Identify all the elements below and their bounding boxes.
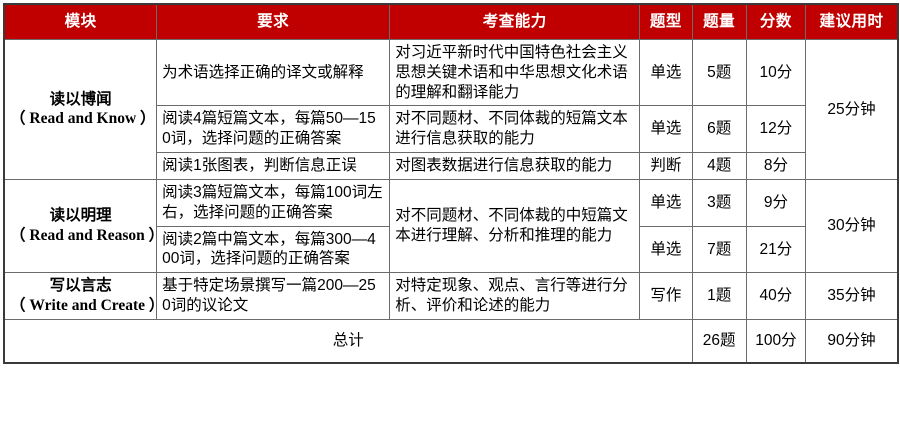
question-type-cell: 单选 (640, 179, 692, 226)
score-cell: 9分 (746, 179, 805, 226)
question-count-cell: 6题 (692, 106, 746, 153)
ability-cell: 对不同题材、不同体裁的中短篇文本进行理解、分析和推理的能力 (390, 179, 640, 272)
column-header-ability: 考查能力 (390, 4, 640, 40)
column-header-time: 建议用时 (806, 4, 898, 40)
total-count: 26题 (692, 319, 746, 363)
ability-cell: 对特定现象、观点、言行等进行分析、评价和论述的能力 (390, 273, 640, 320)
question-type-cell: 单选 (640, 40, 692, 106)
column-header-score: 分数 (746, 4, 805, 40)
column-header-requirement: 要求 (157, 4, 390, 40)
question-count-cell: 4题 (692, 153, 746, 180)
table-row: 读以博闻 （ Read and Know ） 为术语选择正确的译文或解释 对习近… (4, 40, 898, 106)
requirement-cell: 基于特定场景撰写一篇200—250词的议论文 (157, 273, 390, 320)
suggested-time-cell: 35分钟 (806, 273, 898, 320)
requirement-cell: 阅读4篇短篇文本，每篇50—150词，选择问题的正确答案 (157, 106, 390, 153)
suggested-time-cell: 25分钟 (806, 40, 898, 180)
suggested-time-cell: 30分钟 (806, 179, 898, 272)
question-type-cell: 单选 (640, 106, 692, 153)
module-name-en: （ Read and Reason ） (10, 226, 151, 246)
ability-cell: 对不同题材、不同体裁的短篇文本进行信息获取的能力 (390, 106, 640, 153)
module-name-cn: 写以言志 (10, 276, 151, 296)
question-count-cell: 5题 (692, 40, 746, 106)
requirement-cell: 阅读2篇中篇文本，每篇300—400词，选择问题的正确答案 (157, 226, 390, 273)
module-name-cn: 读以博闻 (10, 90, 151, 110)
question-count-cell: 7题 (692, 226, 746, 273)
module-name-cell: 写以言志 （ Write and Create ） (4, 273, 157, 320)
total-score: 100分 (746, 319, 805, 363)
score-cell: 8分 (746, 153, 805, 180)
score-cell: 40分 (746, 273, 805, 320)
ability-cell: 对图表数据进行信息获取的能力 (390, 153, 640, 180)
module-name-en: （ Read and Know ） (10, 109, 151, 129)
table-row: 写以言志 （ Write and Create ） 基于特定场景撰写一篇200—… (4, 273, 898, 320)
table-header: 模块 要求 考查能力 题型 题量 分数 建议用时 (4, 4, 898, 40)
column-header-count: 题量 (692, 4, 746, 40)
question-count-cell: 1题 (692, 273, 746, 320)
module-name-en: （ Write and Create ） (10, 296, 151, 316)
module-name-cell: 读以明理 （ Read and Reason ） (4, 179, 157, 272)
question-type-cell: 判断 (640, 153, 692, 180)
total-time: 90分钟 (806, 319, 898, 363)
exam-structure-table: 模块 要求 考查能力 题型 题量 分数 建议用时 读以博闻 （ Read and… (3, 3, 899, 364)
requirement-cell: 为术语选择正确的译文或解释 (157, 40, 390, 106)
requirement-cell: 阅读1张图表，判断信息正误 (157, 153, 390, 180)
module-name-cn: 读以明理 (10, 206, 151, 226)
ability-cell: 对习近平新时代中国特色社会主义思想关键术语和中华思想文化术语的理解和翻译能力 (390, 40, 640, 106)
score-cell: 12分 (746, 106, 805, 153)
header-row: 模块 要求 考查能力 题型 题量 分数 建议用时 (4, 4, 898, 40)
column-header-type: 题型 (640, 4, 692, 40)
table-row: 读以明理 （ Read and Reason ） 阅读3篇短篇文本，每篇100词… (4, 179, 898, 226)
question-count-cell: 3题 (692, 179, 746, 226)
total-row: 总计 26题 100分 90分钟 (4, 319, 898, 363)
question-type-cell: 单选 (640, 226, 692, 273)
score-cell: 10分 (746, 40, 805, 106)
table-body: 读以博闻 （ Read and Know ） 为术语选择正确的译文或解释 对习近… (4, 40, 898, 363)
total-label: 总计 (4, 319, 692, 363)
requirement-cell: 阅读3篇短篇文本，每篇100词左右，选择问题的正确答案 (157, 179, 390, 226)
column-header-module: 模块 (4, 4, 157, 40)
question-type-cell: 写作 (640, 273, 692, 320)
module-name-cell: 读以博闻 （ Read and Know ） (4, 40, 157, 180)
score-cell: 21分 (746, 226, 805, 273)
